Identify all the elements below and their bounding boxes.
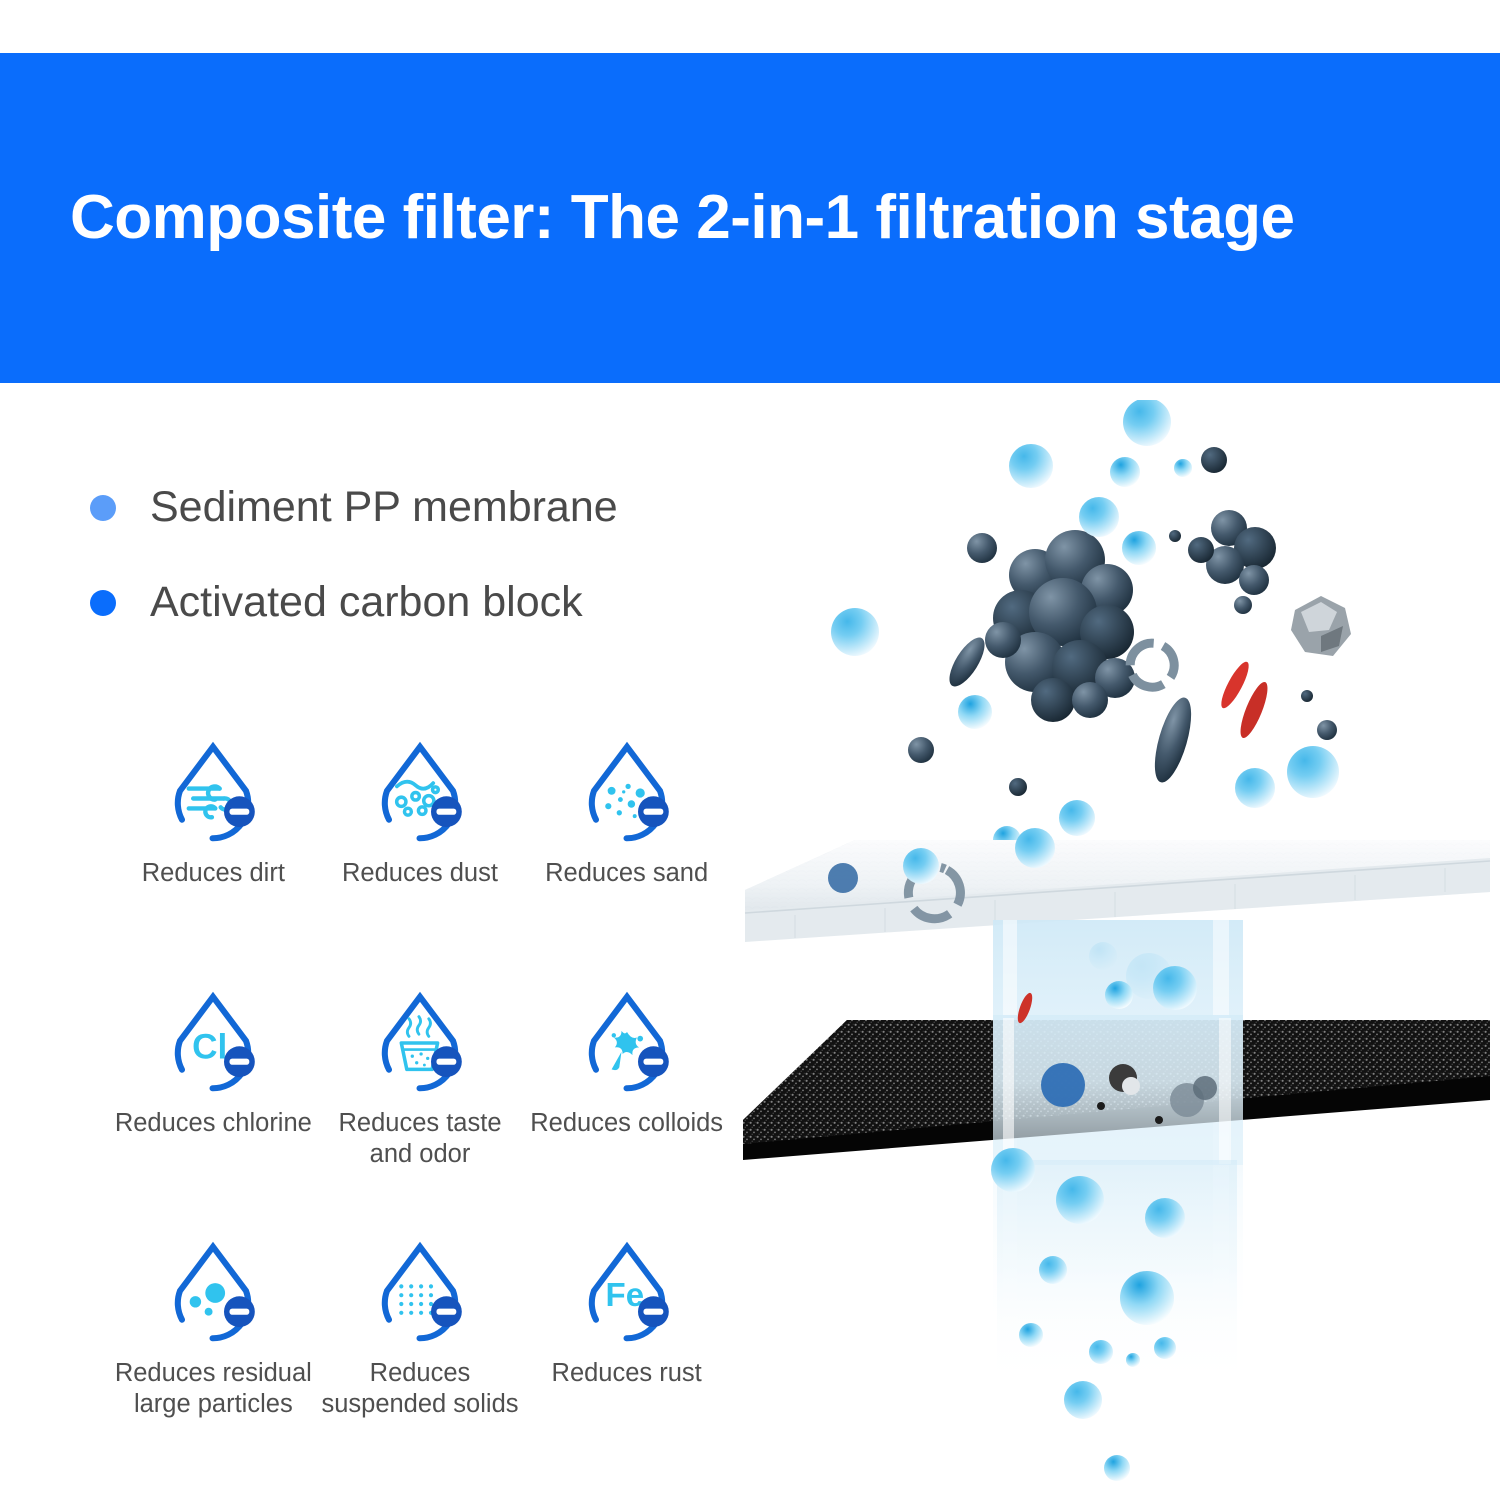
droplet-dust-particles-icon [365,738,475,848]
droplet-dot-matrix-icon [365,1238,475,1348]
legend-item-sediment-pp-membrane: Sediment PP membrane [90,483,618,532]
benefit-item-suspended-solids: Reduces suspended solids [317,1238,524,1488]
benefit-item-taste-and-odor: Reduces taste and odor [317,988,524,1238]
benefit-item-dust: Reduces dust [317,738,524,988]
benefit-item-label: Reduces sand [545,858,708,889]
page-title: Composite filter: The 2-in-1 filtration … [0,184,1295,252]
benefit-item-label: Reduces suspended solids [317,1358,524,1420]
bacteria-cluster-small-icon [1188,510,1276,595]
bullet-dot-icon [90,590,116,616]
benefit-item-rust: Fe Reduces rust [523,1238,730,1488]
ring-particle-icon [1130,643,1174,687]
infographic-page: Composite filter: The 2-in-1 filtration … [0,0,1500,1500]
minus-badge-icon [224,1046,255,1077]
droplet-sand-dots-icon [572,738,682,848]
benefits-grid: Reduces dirt [110,738,730,1488]
legend-item-label: Sediment PP membrane [150,483,618,532]
benefit-item-label: Reduces dirt [142,858,285,889]
benefit-item-dirt: Reduces dirt [110,738,317,988]
activated-carbon-block-layer [743,991,1490,1165]
benefit-item-colloids: Reduces colloids [523,988,730,1238]
left-column: Sediment PP membrane Activated carbon bl… [0,383,740,1500]
droplet-splash-icon [572,988,682,1098]
legend-list: Sediment PP membrane Activated carbon bl… [90,483,618,673]
droplet-cl-icon: Cl [158,988,268,1098]
minus-badge-icon [638,1296,669,1327]
bacteria-cluster-icon [985,530,1135,722]
benefit-item-label: Reduces residual large particles [110,1358,317,1420]
svg-text:Fe: Fe [605,1276,644,1313]
droplet-fe-icon: Fe [572,1238,682,1348]
svg-text:Cl: Cl [192,1027,227,1066]
contaminants-above-membrane [908,447,1351,796]
benefit-item-sand: Reduces sand [523,738,730,988]
header-banner: Composite filter: The 2-in-1 filtration … [0,53,1500,383]
mineral-chunk-icon [1291,596,1351,656]
legend-item-label: Activated carbon block [150,578,583,627]
minus-badge-icon [224,1296,255,1327]
minus-badge-icon [431,1046,462,1077]
clean-water-output [991,1148,1237,1481]
red-rod-contaminant-icons [1217,659,1273,741]
minus-badge-icon [431,796,462,827]
benefit-item-label: Reduces dust [342,858,498,889]
minus-badge-icon [638,1046,669,1077]
benefit-item-label: Reduces taste and odor [317,1108,524,1170]
bullet-dot-icon [90,495,116,521]
minus-badge-icon [638,796,669,827]
droplet-steaming-glass-icon [365,988,475,1098]
minus-badge-icon [431,1296,462,1327]
benefit-item-label: Reduces colloids [530,1108,723,1139]
droplet-large-particles-icon [158,1238,268,1348]
benefit-item-residual-large-particles: Reduces residual large particles [110,1238,317,1488]
droplet-wind-icon [158,738,268,848]
minus-badge-icon [224,796,255,827]
filtration-illustration [735,400,1500,1500]
benefit-item-chlorine: Cl Reduces chlorine [110,988,317,1238]
benefit-item-label: Reduces chlorine [115,1108,312,1139]
benefit-item-label: Reduces rust [552,1358,702,1389]
legend-item-activated-carbon-block: Activated carbon block [90,578,618,627]
filtration-illustration-svg [735,400,1500,1500]
